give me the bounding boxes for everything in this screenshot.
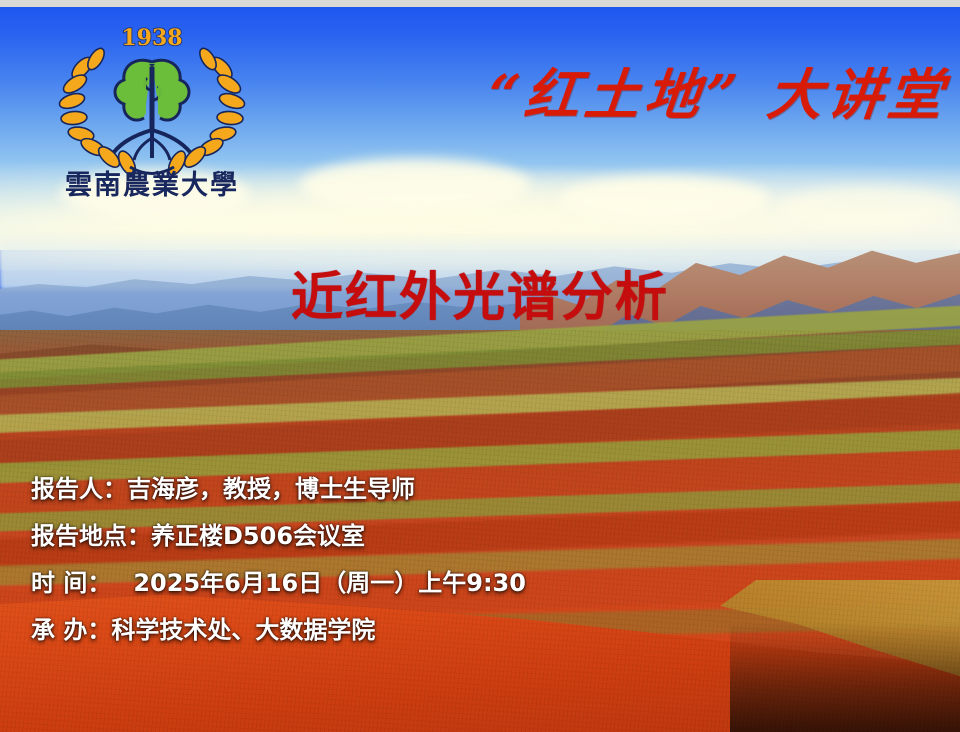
cloud-puff: [300, 158, 530, 212]
venue-label: 报告地点：: [31, 522, 151, 550]
brand-keyword: 红土地: [521, 62, 708, 127]
svg-text:1938: 1938: [121, 25, 182, 51]
cloud-puff: [780, 186, 960, 228]
organizer-label: 承 办：: [31, 616, 111, 644]
speaker-value: 吉海彦，教授，博士生导师: [127, 475, 415, 503]
brand-suffix: 大讲堂: [764, 62, 951, 127]
lecture-poster: 1938: [0, 0, 960, 732]
university-logo: 1938: [52, 12, 252, 197]
organizer-value: 科学技术处、大数据学院: [111, 616, 375, 644]
detail-row-organizer: 承 办：科学技术处、大数据学院: [31, 613, 526, 660]
page-title: 近红外光谱分析: [0, 255, 960, 330]
lecture-details: 报告人：吉海彦，教授，博士生导师 报告地点：养正楼D506会议室 时 间：202…: [31, 472, 526, 660]
brand-close-quote: ”: [701, 62, 744, 127]
venue-value: 养正楼D506会议室: [151, 522, 365, 550]
foreground-shadow: [730, 622, 960, 732]
time-value: 2025年6月16日（周一）上午9:30: [133, 569, 526, 597]
speaker-label: 报告人：: [31, 475, 127, 503]
time-label: 时 间：: [31, 569, 111, 597]
detail-row-venue: 报告地点：养正楼D506会议室: [31, 519, 526, 566]
lecture-series-brand: “红土地”大讲堂: [464, 50, 952, 130]
logo-year-text: 1938: [121, 25, 182, 51]
detail-row-time: 时 间：2025年6月16日（周一）上午9:30: [31, 566, 526, 613]
detail-row-speaker: 报告人：吉海彦，教授，博士生导师: [31, 472, 526, 519]
cloud-puff: [560, 176, 770, 222]
logo-university-name: 雲南農業大學: [65, 170, 239, 197]
top-border-strip: [0, 0, 960, 7]
tree-icon: [114, 60, 190, 160]
